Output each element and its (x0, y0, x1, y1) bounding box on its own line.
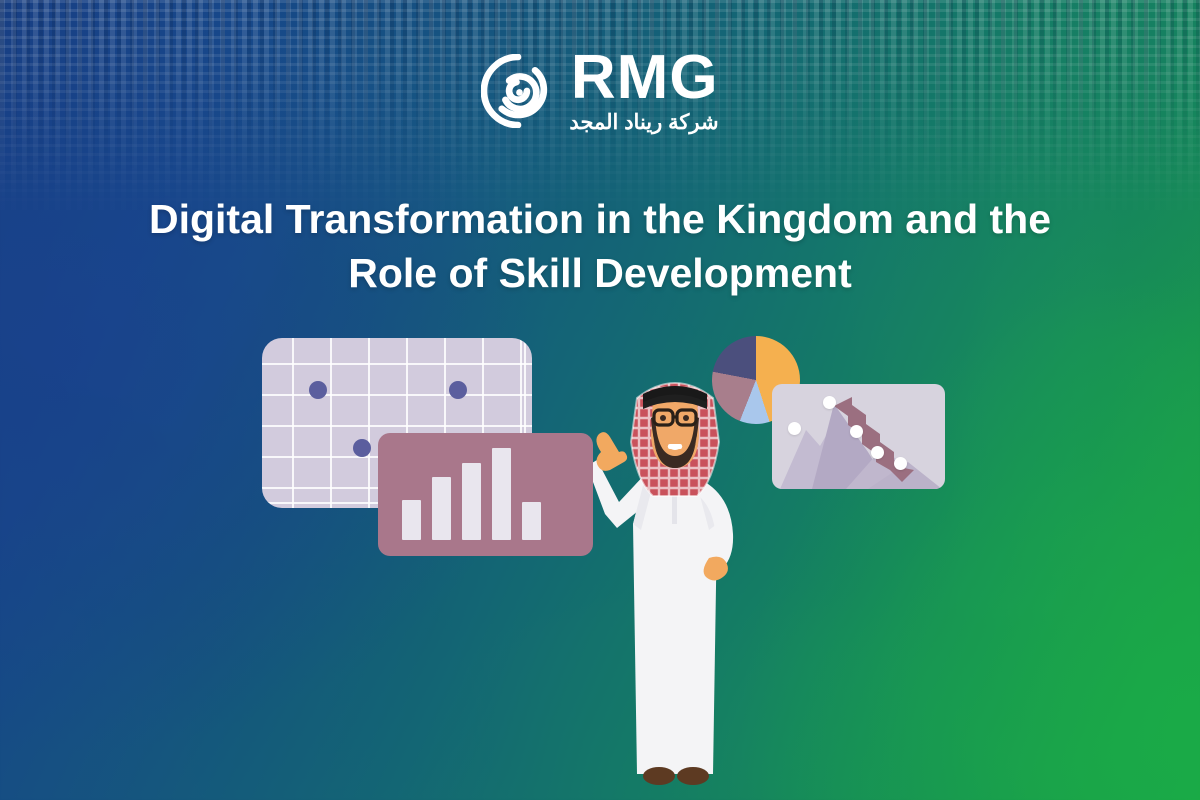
data-point-marker (823, 396, 836, 409)
data-point-marker (871, 446, 884, 459)
bar-3 (462, 463, 481, 540)
eye (660, 415, 666, 421)
data-point-marker (894, 457, 907, 470)
data-point-marker (788, 422, 801, 435)
scatter-dot (353, 439, 371, 457)
saudi-businessman-character (575, 352, 775, 800)
bar-chart-panel (378, 433, 593, 556)
marketing-banner: RMG شركة ريناد المجد Digital Transformat… (0, 0, 1200, 800)
scatter-dot (449, 381, 467, 399)
bar-1 (402, 500, 421, 540)
bar-2 (432, 477, 451, 540)
data-point-marker (850, 425, 863, 438)
shoe (643, 767, 675, 785)
bar-4 (492, 448, 511, 540)
bar-5 (522, 502, 541, 540)
eye (683, 415, 689, 421)
hero-illustration (0, 0, 1200, 800)
bar-chart-bars (402, 444, 577, 540)
scatter-dot (309, 381, 327, 399)
area-chart-panel (772, 384, 945, 489)
shoe (677, 767, 709, 785)
